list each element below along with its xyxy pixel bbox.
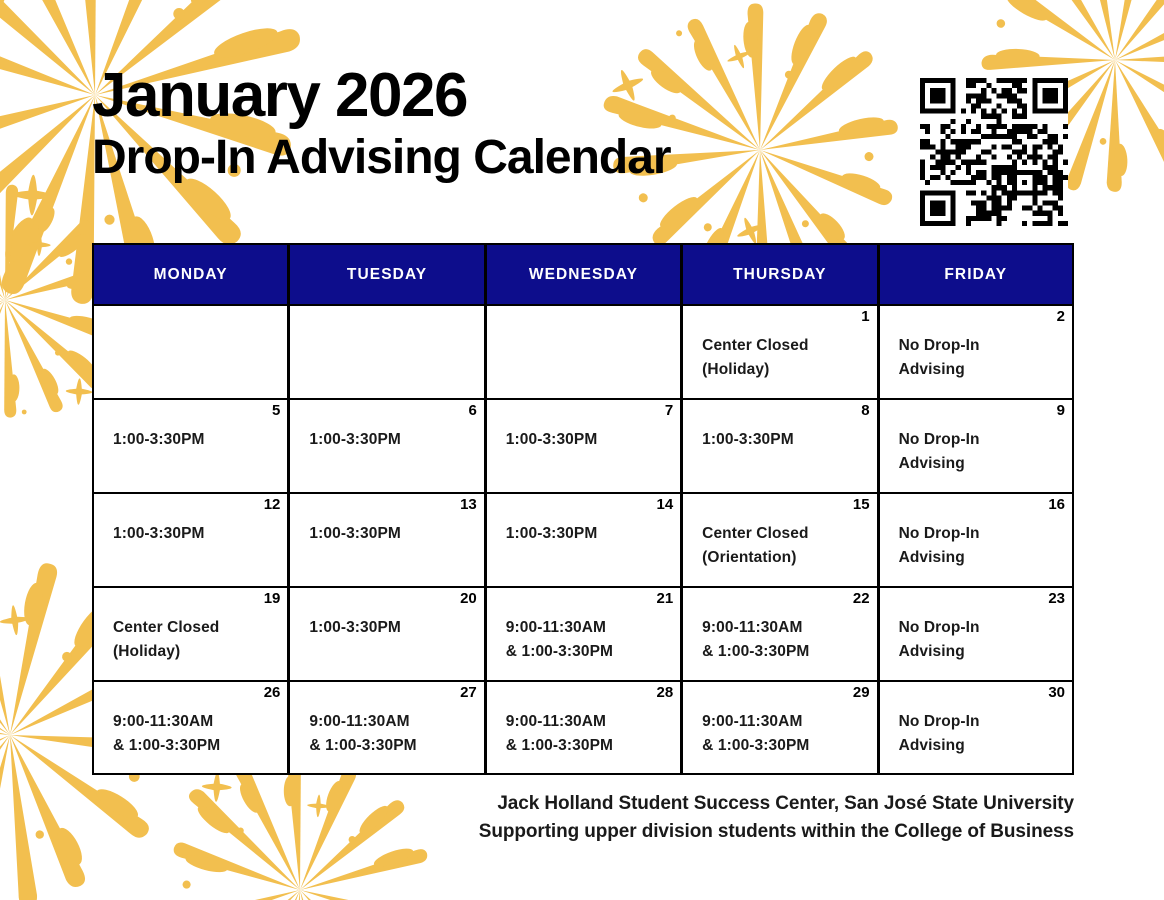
calendar-column-header-wednesday: WEDNESDAY bbox=[485, 243, 681, 305]
day-detail-line: 9:00-11:30AM bbox=[702, 710, 868, 734]
day-detail-line: 1:00-3:30PM bbox=[506, 522, 672, 546]
day-detail-text: 1:00-3:30PM bbox=[702, 428, 868, 452]
day-detail-line: & 1:00-3:30PM bbox=[506, 734, 672, 758]
day-number: 13 bbox=[460, 497, 477, 512]
day-detail-text: 1:00-3:30PM bbox=[309, 616, 475, 640]
drop-in-advising-calendar: MONDAYTUESDAYWEDNESDAYTHURSDAYFRIDAY 1Ce… bbox=[92, 243, 1074, 775]
calendar-day-empty bbox=[288, 305, 484, 399]
page-title-month-year: January 2026 bbox=[92, 64, 671, 127]
calendar-day-28[interactable]: 289:00-11:30AM& 1:00-3:30PM bbox=[485, 681, 681, 775]
day-number: 15 bbox=[853, 497, 870, 512]
calendar-day-15[interactable]: 15Center Closed(Orientation) bbox=[681, 493, 877, 587]
day-detail-text: No Drop-InAdvising bbox=[899, 334, 1064, 382]
day-detail-line: & 1:00-3:30PM bbox=[506, 640, 672, 664]
calendar-day-26[interactable]: 269:00-11:30AM& 1:00-3:30PM bbox=[92, 681, 288, 775]
calendar-week-row: 51:00-3:30PM61:00-3:30PM71:00-3:30PM81:0… bbox=[92, 399, 1074, 493]
day-detail-line: 1:00-3:30PM bbox=[506, 428, 672, 452]
calendar-day-empty bbox=[485, 305, 681, 399]
day-detail-line: Advising bbox=[899, 358, 1064, 382]
day-detail-line: No Drop-In bbox=[899, 428, 1064, 452]
day-detail-text: 9:00-11:30AM& 1:00-3:30PM bbox=[309, 710, 475, 758]
day-detail-line: No Drop-In bbox=[899, 522, 1064, 546]
day-detail-text: Center Closed(Holiday) bbox=[113, 616, 279, 664]
day-detail-text: 1:00-3:30PM bbox=[506, 522, 672, 546]
calendar-day-19[interactable]: 19Center Closed(Holiday) bbox=[92, 587, 288, 681]
day-number: 22 bbox=[853, 591, 870, 606]
calendar-day-23[interactable]: 23No Drop-InAdvising bbox=[878, 587, 1074, 681]
footer: Jack Holland Student Success Center, San… bbox=[0, 790, 1164, 845]
calendar-week-row: 19Center Closed(Holiday)201:00-3:30PM219… bbox=[92, 587, 1074, 681]
day-detail-text: Center Closed(Orientation) bbox=[702, 522, 868, 570]
footer-line-2: Supporting upper division students withi… bbox=[0, 818, 1074, 846]
day-detail-line: (Holiday) bbox=[113, 640, 279, 664]
day-number: 5 bbox=[272, 403, 280, 418]
day-detail-text: 9:00-11:30AM& 1:00-3:30PM bbox=[702, 616, 868, 664]
day-detail-text: No Drop-InAdvising bbox=[899, 428, 1064, 476]
day-detail-line: Advising bbox=[899, 452, 1064, 476]
calendar-week-row: 1Center Closed(Holiday)2No Drop-InAdvisi… bbox=[92, 305, 1074, 399]
calendar-header-row: MONDAYTUESDAYWEDNESDAYTHURSDAYFRIDAY bbox=[92, 243, 1074, 305]
day-detail-text: 1:00-3:30PM bbox=[309, 522, 475, 546]
calendar-week-row: 269:00-11:30AM& 1:00-3:30PM279:00-11:30A… bbox=[92, 681, 1074, 775]
calendar-column-header-thursday: THURSDAY bbox=[681, 243, 877, 305]
calendar-day-6[interactable]: 61:00-3:30PM bbox=[288, 399, 484, 493]
day-number: 26 bbox=[264, 685, 281, 700]
day-detail-line: Center Closed bbox=[113, 616, 279, 640]
day-number: 23 bbox=[1048, 591, 1065, 606]
day-detail-line: No Drop-In bbox=[899, 710, 1064, 734]
day-number: 28 bbox=[656, 685, 673, 700]
day-detail-line: No Drop-In bbox=[899, 616, 1064, 640]
calendar-day-9[interactable]: 9No Drop-InAdvising bbox=[878, 399, 1074, 493]
day-number: 16 bbox=[1048, 497, 1065, 512]
day-number: 7 bbox=[665, 403, 673, 418]
day-number: 1 bbox=[861, 309, 869, 324]
day-detail-text: Center Closed(Holiday) bbox=[702, 334, 868, 382]
day-detail-line: 1:00-3:30PM bbox=[702, 428, 868, 452]
day-detail-line: & 1:00-3:30PM bbox=[309, 734, 475, 758]
day-detail-line: & 1:00-3:30PM bbox=[702, 640, 868, 664]
day-detail-line: Advising bbox=[899, 640, 1064, 664]
calendar-column-header-friday: FRIDAY bbox=[878, 243, 1074, 305]
day-detail-text: 1:00-3:30PM bbox=[113, 522, 279, 546]
day-detail-line: 9:00-11:30AM bbox=[702, 616, 868, 640]
day-detail-text: 9:00-11:30AM& 1:00-3:30PM bbox=[113, 710, 279, 758]
day-number: 9 bbox=[1057, 403, 1065, 418]
calendar-day-13[interactable]: 131:00-3:30PM bbox=[288, 493, 484, 587]
day-number: 14 bbox=[656, 497, 673, 512]
day-number: 19 bbox=[264, 591, 281, 606]
day-number: 8 bbox=[861, 403, 869, 418]
day-detail-line: 9:00-11:30AM bbox=[506, 710, 672, 734]
calendar-day-29[interactable]: 299:00-11:30AM& 1:00-3:30PM bbox=[681, 681, 877, 775]
calendar-day-2[interactable]: 2No Drop-InAdvising bbox=[878, 305, 1074, 399]
qr-code[interactable] bbox=[920, 78, 1068, 226]
day-detail-line: (Holiday) bbox=[702, 358, 868, 382]
calendar-day-12[interactable]: 121:00-3:30PM bbox=[92, 493, 288, 587]
day-number: 27 bbox=[460, 685, 477, 700]
day-detail-line: 1:00-3:30PM bbox=[309, 522, 475, 546]
calendar-column-header-monday: MONDAY bbox=[92, 243, 288, 305]
calendar-poster: January 2026 Drop-In Advising Calendar M… bbox=[0, 0, 1164, 900]
day-detail-line: Center Closed bbox=[702, 522, 868, 546]
day-detail-text: 1:00-3:30PM bbox=[309, 428, 475, 452]
day-number: 12 bbox=[264, 497, 281, 512]
calendar-day-27[interactable]: 279:00-11:30AM& 1:00-3:30PM bbox=[288, 681, 484, 775]
calendar-day-16[interactable]: 16No Drop-InAdvising bbox=[878, 493, 1074, 587]
day-detail-line: (Orientation) bbox=[702, 546, 868, 570]
calendar-day-30[interactable]: 30No Drop-InAdvising bbox=[878, 681, 1074, 775]
day-detail-text: No Drop-InAdvising bbox=[899, 616, 1064, 664]
day-number: 21 bbox=[656, 591, 673, 606]
day-detail-line: 9:00-11:30AM bbox=[309, 710, 475, 734]
day-detail-line: No Drop-In bbox=[899, 334, 1064, 358]
calendar-day-7[interactable]: 71:00-3:30PM bbox=[485, 399, 681, 493]
calendar-week-row: 121:00-3:30PM131:00-3:30PM141:00-3:30PM1… bbox=[92, 493, 1074, 587]
poster-header: January 2026 Drop-In Advising Calendar bbox=[92, 64, 671, 185]
day-detail-text: 9:00-11:30AM& 1:00-3:30PM bbox=[506, 616, 672, 664]
day-detail-line: Center Closed bbox=[702, 334, 868, 358]
footer-line-1: Jack Holland Student Success Center, San… bbox=[0, 790, 1074, 818]
day-detail-text: 1:00-3:30PM bbox=[113, 428, 279, 452]
calendar-day-empty bbox=[92, 305, 288, 399]
page-title-subtitle: Drop-In Advising Calendar bbox=[92, 131, 671, 185]
day-detail-line: 9:00-11:30AM bbox=[113, 710, 279, 734]
calendar-day-21[interactable]: 219:00-11:30AM& 1:00-3:30PM bbox=[485, 587, 681, 681]
day-detail-line: 1:00-3:30PM bbox=[309, 428, 475, 452]
day-detail-line: Advising bbox=[899, 546, 1064, 570]
calendar-day-20[interactable]: 201:00-3:30PM bbox=[288, 587, 484, 681]
calendar-day-22[interactable]: 229:00-11:30AM& 1:00-3:30PM bbox=[681, 587, 877, 681]
calendar-column-header-tuesday: TUESDAY bbox=[288, 243, 484, 305]
day-number: 6 bbox=[468, 403, 476, 418]
day-detail-text: 9:00-11:30AM& 1:00-3:30PM bbox=[702, 710, 868, 758]
day-number: 20 bbox=[460, 591, 477, 606]
day-detail-line: 1:00-3:30PM bbox=[113, 428, 279, 452]
day-detail-line: 1:00-3:30PM bbox=[113, 522, 279, 546]
calendar-day-8[interactable]: 81:00-3:30PM bbox=[681, 399, 877, 493]
day-detail-text: 9:00-11:30AM& 1:00-3:30PM bbox=[506, 710, 672, 758]
day-detail-line: Advising bbox=[899, 734, 1064, 758]
calendar-day-5[interactable]: 51:00-3:30PM bbox=[92, 399, 288, 493]
day-detail-line: & 1:00-3:30PM bbox=[113, 734, 279, 758]
day-number: 2 bbox=[1057, 309, 1065, 324]
day-detail-line: 9:00-11:30AM bbox=[506, 616, 672, 640]
day-detail-line: & 1:00-3:30PM bbox=[702, 734, 868, 758]
day-number: 30 bbox=[1048, 685, 1065, 700]
day-detail-text: 1:00-3:30PM bbox=[506, 428, 672, 452]
calendar-day-1[interactable]: 1Center Closed(Holiday) bbox=[681, 305, 877, 399]
calendar-day-14[interactable]: 141:00-3:30PM bbox=[485, 493, 681, 587]
day-number: 29 bbox=[853, 685, 870, 700]
day-detail-line: 1:00-3:30PM bbox=[309, 616, 475, 640]
day-detail-text: No Drop-InAdvising bbox=[899, 522, 1064, 570]
day-detail-text: No Drop-InAdvising bbox=[899, 710, 1064, 758]
